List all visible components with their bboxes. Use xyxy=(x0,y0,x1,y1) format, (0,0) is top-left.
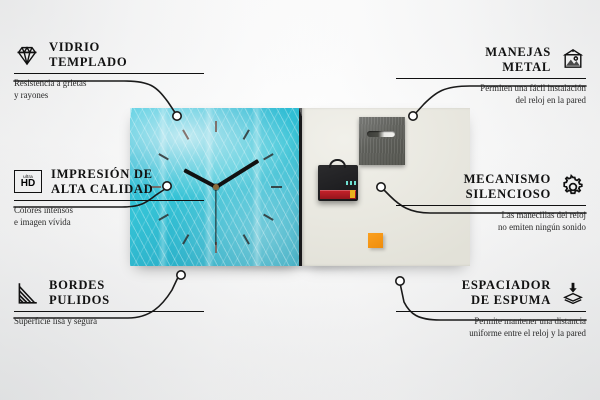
callout-silent-mechanism: MECANISMO SILENCIOSO Las manecillas del … xyxy=(396,172,586,234)
callout-polished-edges: BORDES PULIDOS Superficie lisa y segura xyxy=(14,278,204,328)
callout-divider xyxy=(396,205,586,206)
callout-divider xyxy=(14,200,204,201)
hanger-keyhole-slot xyxy=(367,131,395,137)
callout-title: ESPACIADOR DE ESPUMA xyxy=(462,278,551,308)
callout-subtitle: Permiten una fácil instalación del reloj… xyxy=(396,83,586,107)
hatched-edge-icon xyxy=(14,280,40,306)
diamond-icon xyxy=(14,42,40,68)
callout-foam-spacer: ESPACIADOR DE ESPUMA Permite mantener un… xyxy=(396,278,586,340)
foam-spacer xyxy=(368,233,383,248)
callout-subtitle: Permite mantener una distancia uniforme … xyxy=(396,316,586,340)
clock-minute-hand xyxy=(215,159,259,188)
battery xyxy=(320,190,356,199)
callout-subtitle: Superficie lisa y segura xyxy=(14,316,204,328)
callout-subtitle: Las manecillas del reloj no emiten ningú… xyxy=(396,210,586,234)
callout-title: MECANISMO SILENCIOSO xyxy=(464,172,551,202)
glass-seam xyxy=(252,108,262,266)
callout-metal-handles: MANEJAS METAL Permiten una fácil instala… xyxy=(396,45,586,107)
callout-tempered-glass: VIDRIO TEMPLADO Resistencia a grietas y … xyxy=(14,40,204,102)
arrow-onto-layers-icon xyxy=(560,280,586,306)
callout-divider xyxy=(396,78,586,79)
callout-divider xyxy=(14,73,204,74)
callout-subtitle: Colores intensos e imagen vívida xyxy=(14,205,204,229)
metal-hanger-plate xyxy=(359,117,405,165)
infographic-canvas: VIDRIO TEMPLADO Resistencia a grietas y … xyxy=(0,0,600,400)
glass-seam xyxy=(204,108,214,266)
callout-hd-print: ultra HD IMPRESIÓN DE ALTA CALIDAD Color… xyxy=(14,167,204,229)
movement-hanging-loop xyxy=(329,159,346,168)
gear-icon xyxy=(560,174,586,200)
movement-label xyxy=(346,181,356,185)
ultra-hd-icon-bottom: HD xyxy=(21,179,35,189)
callout-title: MANEJAS METAL xyxy=(485,45,551,75)
hanging-picture-frame-icon xyxy=(560,47,586,73)
battery-terminal xyxy=(350,190,355,198)
callout-divider xyxy=(396,311,586,312)
clock-second-hand xyxy=(215,187,216,245)
callout-title: VIDRIO TEMPLADO xyxy=(49,40,127,70)
callout-title: BORDES PULIDOS xyxy=(49,278,110,308)
ultra-hd-icon: ultra HD xyxy=(14,170,42,193)
callout-subtitle: Resistencia a grietas y rayones xyxy=(14,78,204,102)
clock-hand-cap xyxy=(213,184,219,190)
quartz-movement xyxy=(318,165,358,201)
callout-title: IMPRESIÓN DE ALTA CALIDAD xyxy=(51,167,153,197)
callout-divider xyxy=(14,311,204,312)
